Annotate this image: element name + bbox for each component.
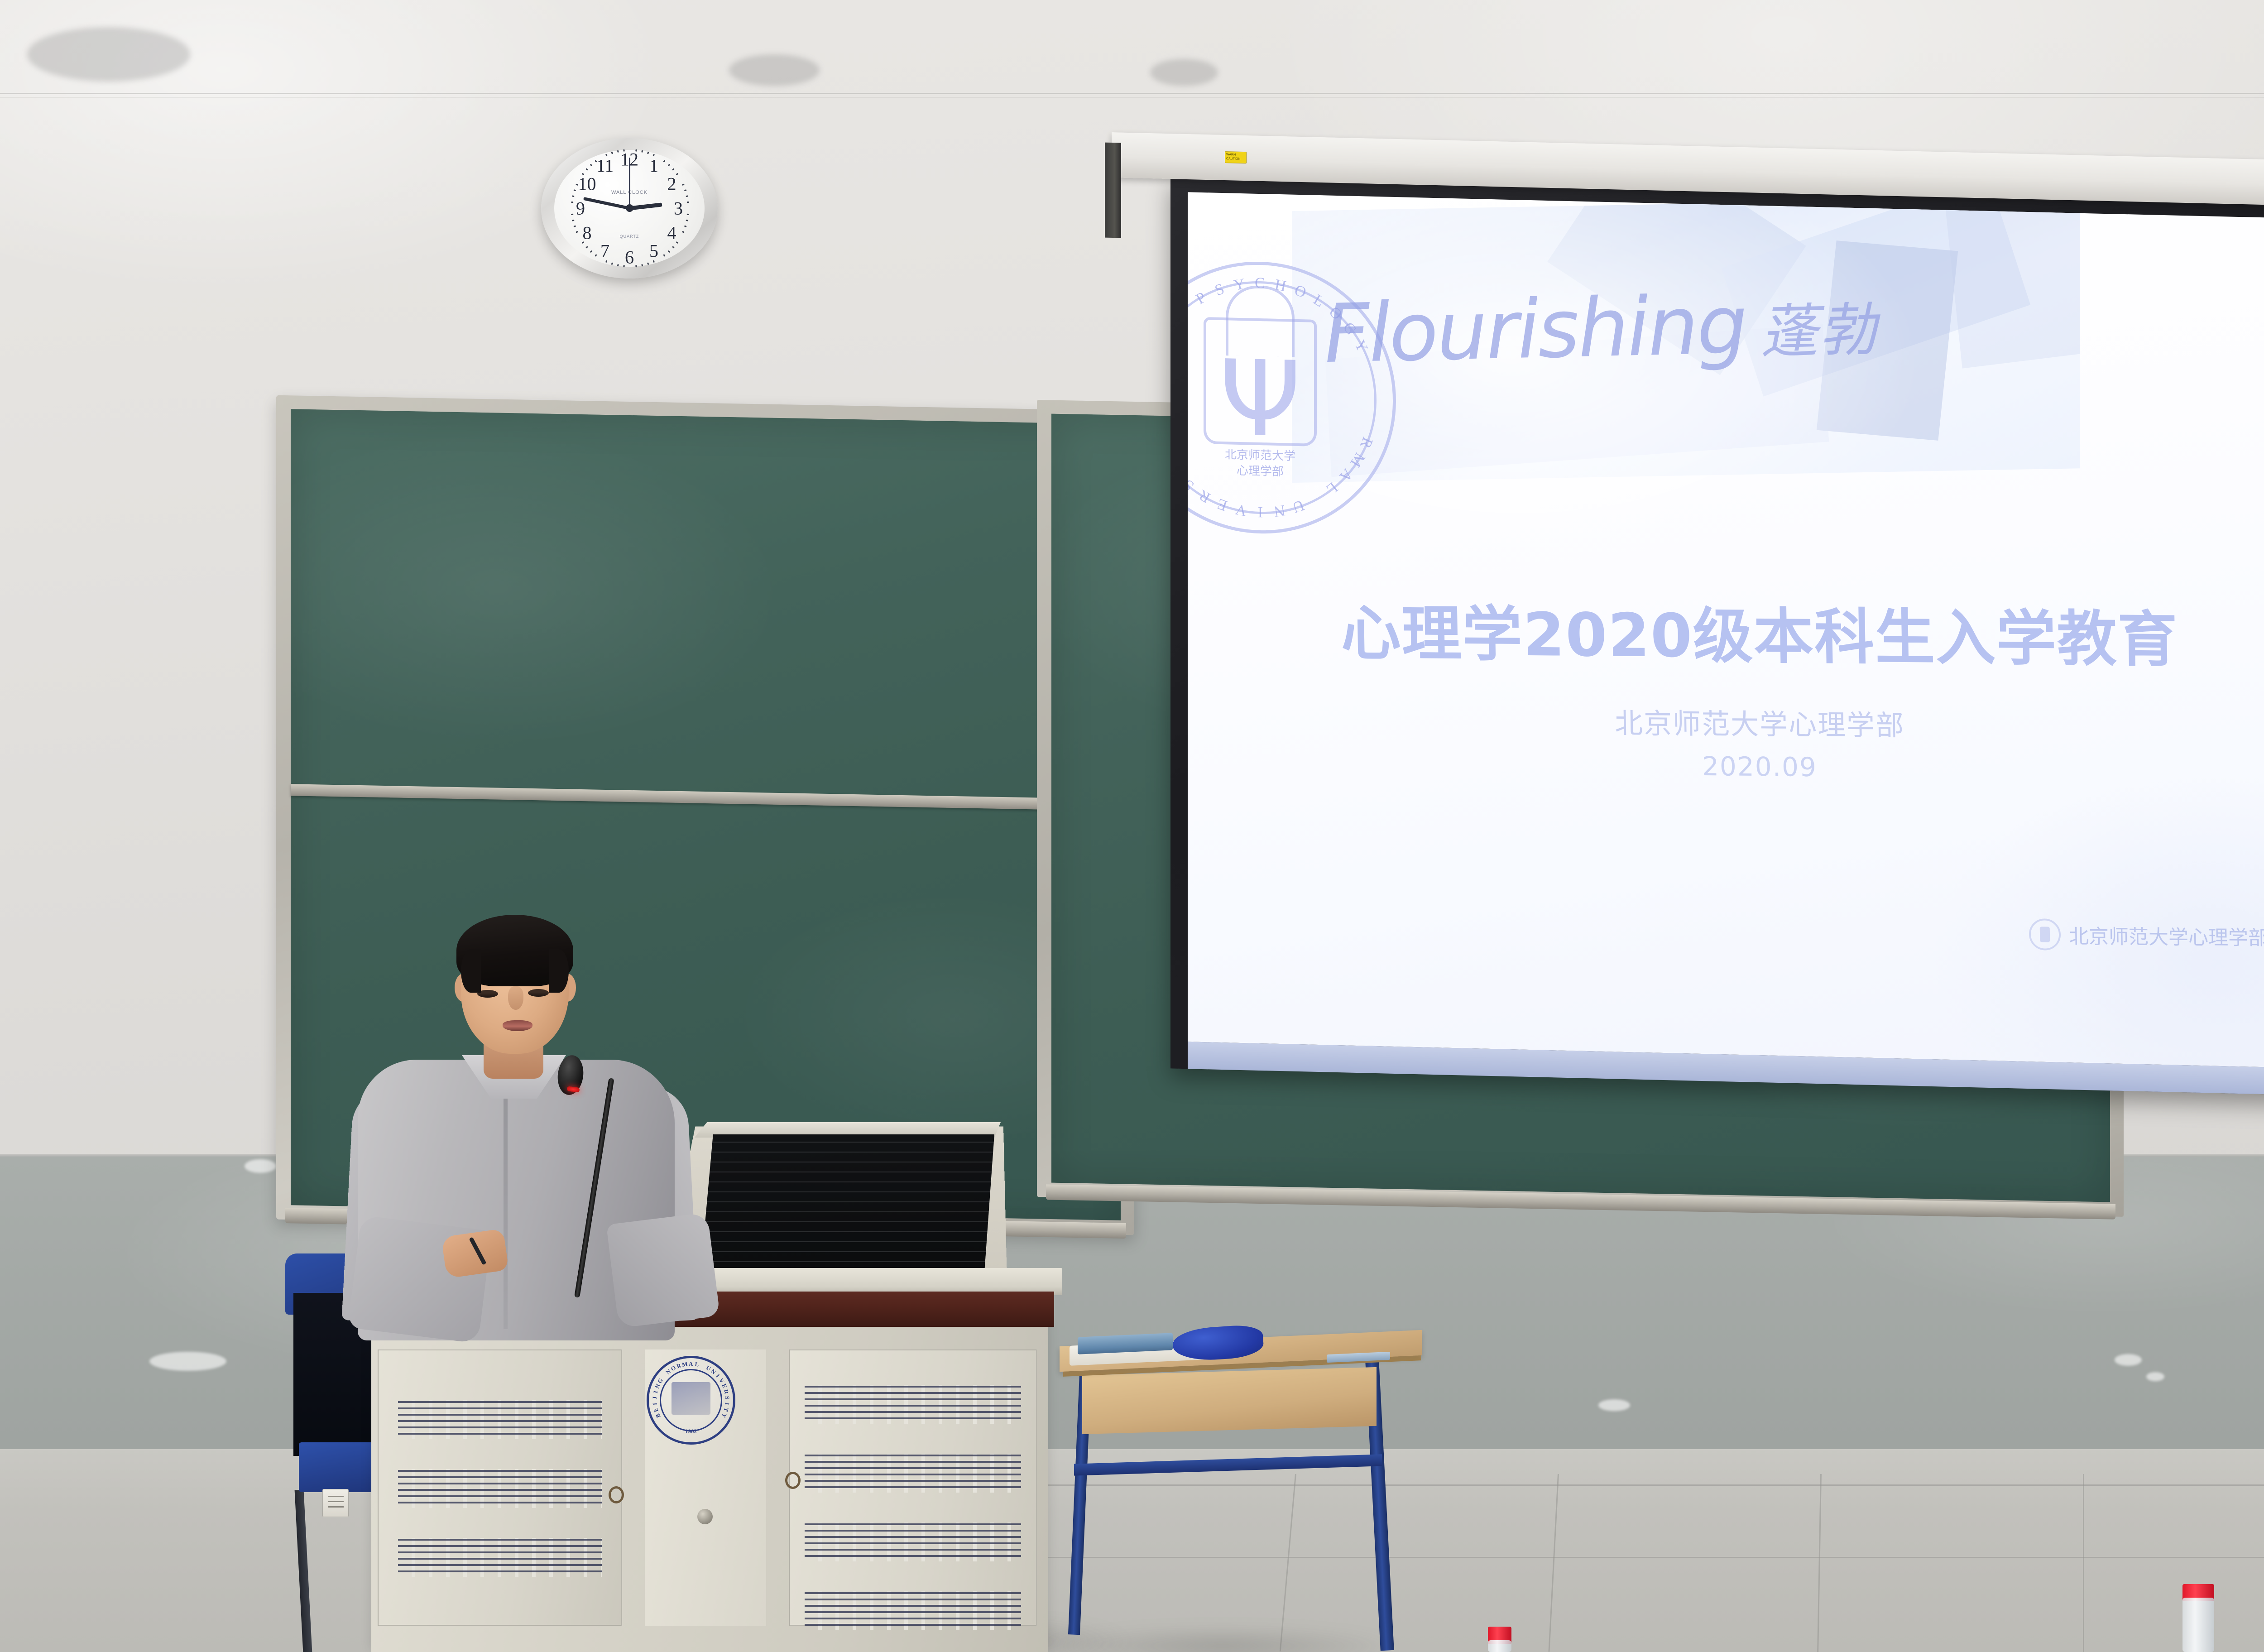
clock-minute-tick	[682, 183, 685, 186]
clock-minute-tick	[611, 152, 613, 154]
clock-minute-tick	[571, 214, 573, 216]
podium-vent-l3	[398, 1538, 602, 1577]
clock-minute-tick	[571, 202, 573, 203]
desk-apron-panel	[1082, 1367, 1377, 1434]
podium-vent-l1	[398, 1400, 602, 1439]
seal-char: I	[1257, 503, 1263, 520]
slide-date-line: 2020.09	[1188, 747, 2264, 787]
psi-symbol-icon: Ψ	[1219, 346, 1301, 452]
clock-minute-tick	[682, 231, 685, 233]
clock-minute-tick	[676, 173, 679, 175]
seal-char: Y	[719, 1412, 728, 1419]
clock-minute-tick	[686, 195, 688, 197]
footer-logo-label: 北京师范大学心理学部	[2069, 920, 2264, 951]
screen-mount-bracket	[1105, 143, 1121, 238]
podium-vent-r2	[805, 1454, 1022, 1493]
slide-title: 心理学2020级本科生入学教育	[1188, 584, 2264, 679]
seal-char: T	[722, 1407, 730, 1413]
slide-footer-logo: 北京师范大学心理学部	[2029, 918, 2264, 952]
clock-minute-tick	[668, 250, 671, 253]
clock-minute-tick	[663, 160, 665, 163]
footer-seal-icon	[2029, 918, 2061, 951]
warning-sticker: WARN CAUTION	[1225, 151, 1247, 163]
seal-char: V	[1234, 500, 1248, 519]
banner-shape-4	[1944, 197, 2080, 368]
clock-center-cap	[626, 204, 633, 212]
bottle-body-right	[2182, 1598, 2214, 1652]
seal-char: E	[1215, 495, 1230, 514]
seal-char: I	[651, 1402, 658, 1406]
podium-vent-r4	[805, 1591, 1022, 1630]
podium-handle-left[interactable]	[609, 1486, 624, 1503]
wall-scuff-2	[245, 1159, 276, 1173]
seal-char: N	[1272, 501, 1287, 520]
clock-minute-tick	[672, 246, 675, 249]
wall-scuff-3	[1598, 1399, 1630, 1411]
clock-hour-8: 8	[582, 222, 591, 243]
clock-minute-tick	[611, 262, 613, 265]
wall-smudge-3	[1150, 59, 1218, 86]
seal-char: M	[681, 1360, 688, 1369]
seal-center-chinese: 北京师范大学 心理学部	[1225, 447, 1295, 480]
seal-char: A	[1335, 465, 1356, 485]
seal-char	[1309, 490, 1322, 507]
wall-scuff-1	[149, 1352, 226, 1371]
clock-minute-tick	[684, 189, 687, 191]
clock-minute-tick	[595, 254, 597, 257]
clock-minute-tick	[605, 260, 608, 263]
seal-char: E	[652, 1407, 660, 1413]
clock-minute-hand	[583, 197, 630, 210]
wall-seam-top	[0, 93, 2264, 94]
seal-char: J	[651, 1396, 658, 1400]
wall-scuff-5	[2146, 1372, 2164, 1381]
podium-door-left[interactable]	[378, 1349, 622, 1626]
water-bottle-left[interactable]	[1488, 1627, 1511, 1652]
clock-minute-tick	[641, 264, 643, 267]
clock-minute-tick	[687, 214, 689, 216]
clock-minute-tick	[663, 254, 665, 257]
floor-grout-h-2	[974, 1557, 2264, 1558]
seal-char: A	[689, 1360, 693, 1368]
clock-minute-tick	[647, 262, 649, 265]
flourishing-en: Flourishing	[1322, 278, 1748, 381]
clock-hour-2: 2	[667, 173, 676, 194]
wall-smudge-2	[729, 54, 820, 86]
clock-minute-tick	[684, 225, 687, 227]
seal-char: B	[654, 1412, 662, 1419]
clock-minute-tick	[573, 189, 576, 191]
clock-hour-6: 6	[625, 246, 634, 268]
seal-char: I	[652, 1390, 660, 1394]
clock-minute-tick	[635, 265, 637, 267]
clock-minute-tick	[576, 231, 578, 233]
floor-grout-h-1	[974, 1484, 2264, 1486]
presenter-left-hand	[441, 1229, 508, 1278]
seal-char: I	[723, 1402, 730, 1406]
podium-lock[interactable]	[697, 1509, 713, 1524]
clock-minute-tick	[590, 164, 593, 167]
clock-hour-4: 4	[667, 222, 676, 243]
clock-minute-tick	[687, 202, 689, 203]
podium-seal-year: 1902	[685, 1428, 697, 1435]
seal-char	[661, 1373, 667, 1379]
wall-seam-top-2	[0, 97, 2264, 98]
clock-minute-tick	[572, 195, 575, 197]
clock-hour-11: 11	[596, 155, 614, 177]
clock-minute-tick	[585, 168, 588, 171]
floor-grout-v-5	[2083, 1474, 2084, 1652]
podium-vent-r3	[805, 1522, 1022, 1561]
classroom-photo-scene: WALL CLOCK QUARTZ 121234567891011 WARN C…	[0, 0, 2264, 1652]
seal-char	[701, 1362, 705, 1369]
slide-org-line: 北京师范大学心理学部	[1188, 697, 2264, 747]
seal-char: S	[1188, 475, 1198, 495]
podium-vent-l2	[398, 1469, 602, 1508]
presenter-eye-right	[528, 989, 549, 997]
desk-floor-shadow	[1041, 1626, 1404, 1652]
seal-char: L	[1323, 478, 1341, 498]
flourishing-wordmark: Flourishing蓬勃	[1322, 275, 1879, 381]
wall-power-outlet[interactable]	[322, 1489, 349, 1517]
clock-minute-tick	[672, 168, 675, 171]
seal-char: R	[1196, 486, 1214, 506]
seal-char: M	[1346, 449, 1368, 471]
clock-hour-10: 10	[578, 173, 596, 194]
clock-minute-tick	[572, 220, 575, 221]
clock-minute-tick	[647, 152, 649, 154]
wall-clock: WALL CLOCK QUARTZ 121234567891011	[541, 138, 718, 279]
bottle-body-left	[1488, 1640, 1511, 1652]
seal-char: R	[722, 1389, 730, 1395]
seal-char: U	[1290, 496, 1306, 516]
presenter-mouth	[503, 1020, 532, 1031]
projection-screen: OF PSYCHOLOGY RMAL UNIVERSITY Ψ 北京师范大学 心…	[1170, 176, 2264, 1096]
seal-char: R	[1356, 435, 1376, 451]
wall-scuff-4	[2115, 1354, 2142, 1366]
presenter-right-arm	[606, 1212, 720, 1328]
clock-minute-tick	[686, 220, 688, 221]
podium-handle-right[interactable]	[785, 1472, 801, 1489]
clock-hour-hand	[629, 202, 662, 210]
projected-slide: OF PSYCHOLOGY RMAL UNIVERSITY Ψ 北京师范大学 心…	[1188, 192, 2264, 1069]
water-bottle-right[interactable]	[2182, 1584, 2214, 1652]
clock-hour-3: 3	[674, 197, 683, 219]
clock-minute-tick	[617, 150, 619, 153]
clock-minute-tick	[641, 150, 643, 153]
clock-minute-tick	[623, 149, 625, 152]
flourishing-cn: 蓬勃	[1758, 296, 1879, 366]
clock-hour-7: 7	[600, 240, 609, 261]
presenter-nose	[508, 986, 523, 1010]
clock-minute-tick	[668, 164, 671, 167]
presenter-hair	[456, 915, 573, 986]
clock-hour-9: 9	[576, 197, 585, 219]
wall-smudge-1	[27, 27, 190, 82]
clock-minute-tick	[617, 264, 619, 267]
seal-char: L	[694, 1360, 700, 1368]
clock-second-hand	[629, 158, 630, 208]
clock-minute-tick	[585, 246, 588, 249]
podium-university-seal: BEIJING NORMAL UNIVERSITY 1902	[647, 1356, 735, 1445]
clock-sub-label: QUARTZ	[620, 234, 639, 239]
seal-char: E	[720, 1383, 729, 1390]
podium-door-right[interactable]	[789, 1349, 1037, 1626]
clock-minute-tick	[573, 225, 576, 227]
seal-char: S	[724, 1396, 731, 1400]
clock-minute-tick	[590, 250, 593, 253]
clock-hour-1: 1	[649, 155, 658, 177]
podium-vent-r1	[805, 1385, 1022, 1424]
clock-face: WALL CLOCK QUARTZ 121234567891011	[554, 150, 705, 266]
clock-hour-5: 5	[649, 240, 658, 261]
